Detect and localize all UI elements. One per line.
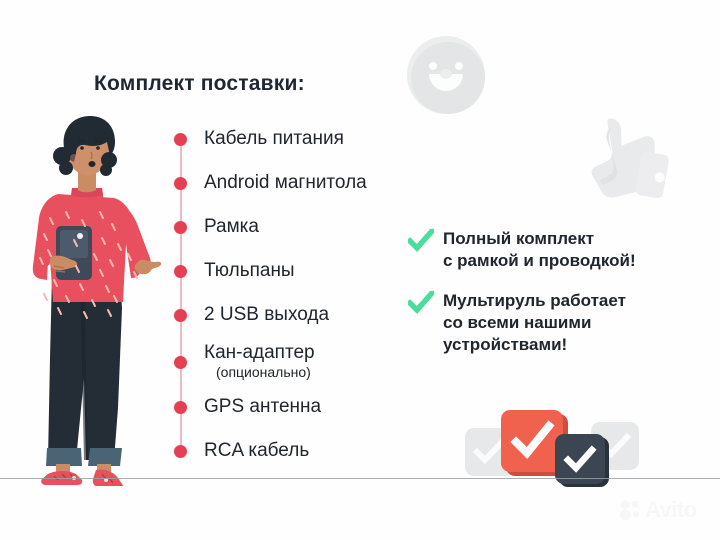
list-item-sublabel: (опционально)	[216, 364, 315, 381]
list-item: Кан-адаптер (опционально)	[174, 342, 315, 381]
benefit-line-2: с рамкой и проводкой!	[443, 251, 636, 270]
bullet-dot-icon	[174, 177, 187, 190]
list-item: 2 USB выхода	[174, 304, 329, 326]
benefit-item: Полный комплект с рамкой и проводкой!	[408, 228, 636, 272]
bullet-dot-icon	[174, 445, 187, 458]
bullet-dot-icon	[174, 265, 187, 278]
list-item-label: Тюльпаны	[204, 260, 295, 282]
bullet-dot-icon	[174, 401, 187, 414]
page-title: Комплект поставки:	[94, 72, 305, 96]
checkbox-card-icon	[465, 410, 635, 488]
list-item-label: 2 USB выхода	[204, 304, 329, 326]
ground-line	[0, 478, 720, 479]
bullet-dot-icon	[174, 356, 187, 369]
bullet-dot-icon	[174, 221, 187, 234]
list-item: Android магнитола	[174, 172, 367, 194]
check-mark-icon	[408, 229, 434, 258]
benefit-line-1: Мультируль работает	[443, 291, 626, 310]
list-item: RCA кабель	[174, 440, 309, 462]
checkbox-card-coral	[501, 410, 563, 472]
avito-logo-icon: Avito	[619, 499, 697, 521]
person-illustration	[14, 108, 164, 486]
promo-banner: Комплект поставки: Кабель питания Androi…	[0, 0, 720, 540]
list-item: GPS антенна	[174, 396, 321, 418]
list-item-label: Кан-адаптер	[204, 342, 315, 364]
watermark-label: Avito	[645, 499, 697, 521]
list-item-label: Кабель питания	[204, 128, 344, 150]
list-item-label: GPS антенна	[204, 396, 321, 418]
list-item-label: Рамка	[204, 216, 259, 238]
list-item: Рамка	[174, 216, 259, 238]
benefit-line-1: Полный комплект	[443, 229, 594, 248]
list-item-label: RCA кабель	[204, 440, 309, 462]
list-item: Тюльпаны	[174, 260, 295, 282]
benefit-item: Мультируль работает со всеми нашими устр…	[408, 290, 626, 356]
check-mark-icon	[408, 291, 434, 320]
bullet-dot-icon	[174, 133, 187, 146]
benefit-line-2: со всеми нашими	[443, 313, 591, 332]
smiley-face-icon	[407, 36, 485, 114]
thumbs-up-icon	[569, 103, 682, 213]
bullet-dot-icon	[174, 309, 187, 322]
list-item: Кабель питания	[174, 128, 344, 150]
benefit-line-3: устройствами!	[443, 335, 567, 354]
list-item-label: Android магнитола	[204, 172, 367, 194]
checkbox-card-slate	[555, 434, 605, 484]
